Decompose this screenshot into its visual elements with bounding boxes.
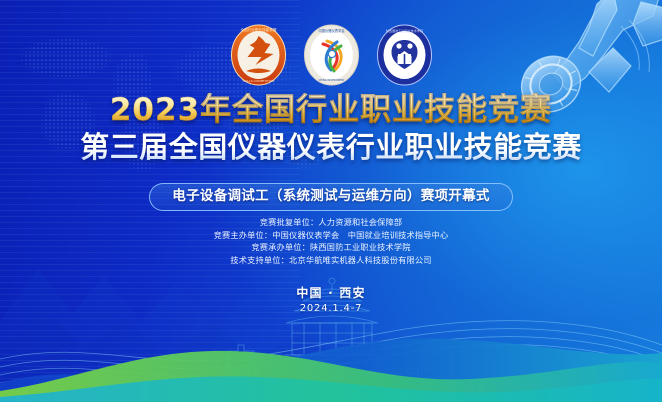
title-block: 2023年全国行业职业技能竞赛 第三届全国仪器仪表行业职业技能竞赛 <box>0 93 662 163</box>
svg-text:1958: 1958 <box>399 76 409 80</box>
svg-text:中国仪器仪表学会: 中国仪器仪表学会 <box>318 28 345 33</box>
organization-list: 竞赛批复单位：人力资源和社会保障部 竞赛主办单位：中国仪器仪表学会 中国就业培训… <box>0 216 662 266</box>
conference-poster: 全国行业职业技能竞赛 SKILLS COMPETITION 中国仪器仪表学会 C… <box>0 0 662 402</box>
svg-text:CHINA INSTRUMENT: CHINA INSTRUMENT <box>318 78 345 82</box>
event-place: 中国 · 西安 <box>0 285 662 301</box>
svg-text:全国行业职业技能竞赛: 全国行业职业技能竞赛 <box>240 27 276 32</box>
svg-text:SKILLS COMPETITION: SKILLS COMPETITION <box>242 79 274 83</box>
emblem-shaanxi-national-defense-institute: 陕西国防工业职业技术学院 1958 <box>376 24 433 86</box>
organization-line: 竞赛主办单位：中国仪器仪表学会 中国就业培训技术指导中心 <box>0 229 662 242</box>
organization-line: 竞赛批复单位：人力资源和社会保障部 <box>0 216 662 229</box>
emblem-national-vocational-skills-competition: 全国行业职业技能竞赛 SKILLS COMPETITION <box>230 24 287 86</box>
event-date: 2024.1.4-7 <box>0 302 662 316</box>
organization-line: 竞赛承办单位：陕西国防工业职业技术学院 <box>0 241 662 254</box>
page-title: 2023年全国行业职业技能竞赛 <box>0 93 662 127</box>
page-subtitle: 第三届全国仪器仪表行业职业技能竞赛 <box>0 131 662 163</box>
footer-block: 中国 · 西安 2024.1.4-7 <box>0 285 662 316</box>
organization-line: 技术支持单位：北京华航唯实机器人科技股份有限公司 <box>0 254 662 267</box>
event-pill-row: 电子设备调试工（系统测试与运维方向）赛项开幕式 <box>0 183 662 211</box>
event-name-badge: 电子设备调试工（系统测试与运维方向）赛项开幕式 <box>149 183 512 211</box>
emblem-china-instrument-and-control-society: 中国仪器仪表学会 CHINA INSTRUMENT <box>303 24 360 86</box>
emblem-row: 全国行业职业技能竞赛 SKILLS COMPETITION 中国仪器仪表学会 C… <box>0 24 662 86</box>
svg-text:陕西国防工业职业技术学院: 陕西国防工业职业技术学院 <box>385 28 422 33</box>
